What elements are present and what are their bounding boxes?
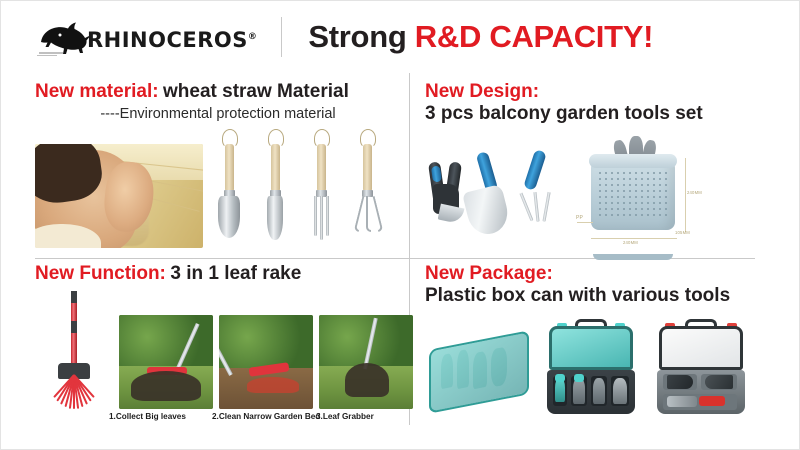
- case-lid-panel: [659, 326, 743, 370]
- section-new-package: New Package: Plastic box can with variou…: [425, 263, 793, 443]
- wheat-straw-photo: [35, 144, 203, 248]
- brand-name: RHINOCEROS®: [87, 28, 257, 52]
- blue-handle-tool-set: [425, 144, 575, 256]
- wheat-straw-tool-lineup: [207, 130, 393, 248]
- cultivator-handle: [523, 149, 547, 191]
- slide-canvas: RHINOCEROS® Strong R&D CAPACITY! New mat…: [0, 0, 800, 450]
- new-material-heading-red: New material:: [35, 81, 159, 102]
- gray-red-open-tool-case: [653, 322, 749, 418]
- fork-prong: [314, 196, 317, 236]
- basket-body: [591, 158, 675, 230]
- new-material-heading-black: wheat straw Material: [163, 81, 349, 102]
- cultivator-prong: [520, 192, 534, 221]
- new-design-heading: New Design: 3 pcs balcony garden tools s…: [425, 81, 793, 126]
- wheat-straw-handle-cultivator: [347, 130, 387, 242]
- transplanter-blade: [267, 196, 283, 240]
- case-tool-item: [667, 396, 697, 407]
- case-tray: [547, 370, 635, 414]
- leaf-rake-captions: 1.Collect Big leaves 2.Clean Narrow Gard…: [35, 412, 407, 421]
- new-design-heading-red: New Design:: [425, 81, 539, 102]
- tool-case-lineup: [425, 322, 793, 418]
- tool-grip: [555, 374, 565, 382]
- dimension-line-material: [577, 222, 593, 223]
- section-new-design: New Design: 3 pcs balcony garden tools s…: [425, 81, 793, 256]
- new-design-media: 240MM 240MM 105MM PP: [425, 136, 793, 256]
- caption-collect-big-leaves: 1.Collect Big leaves: [109, 412, 212, 421]
- case-tool-item: [705, 375, 733, 389]
- leaf-rake-photo-collect: [119, 315, 213, 409]
- case-lid: [429, 330, 529, 413]
- case-tool-item: [667, 375, 693, 389]
- new-function-heading: New Function: 3 in 1 leaf rake: [35, 263, 407, 285]
- slide-header: RHINOCEROS® Strong R&D CAPACITY!: [1, 1, 800, 73]
- pruner-blade: [438, 203, 465, 224]
- leaf-rake-product-shot: [35, 291, 113, 409]
- trowel-scoop: [462, 184, 512, 238]
- section-new-function: New Function: 3 in 1 leaf rake: [35, 263, 407, 443]
- case-lid-panel: [549, 326, 633, 370]
- page-title-red: R&D CAPACITY!: [415, 19, 653, 54]
- tool-grip: [574, 374, 584, 382]
- caption-leaf-grabber: 3.Leaf Grabber: [316, 412, 406, 421]
- wheat-straw-handle-fork: [301, 130, 341, 242]
- cultivator-claw: [370, 196, 384, 232]
- basket-foot: [593, 254, 673, 260]
- section-new-material: New material: wheat straw Material ----E…: [35, 81, 407, 256]
- leaf-rake-media: [35, 291, 407, 409]
- leaf-rake-photo-grabber: [319, 315, 413, 409]
- trowel-blade: [218, 196, 240, 238]
- new-package-heading-black: Plastic box can with various tools: [425, 285, 793, 307]
- new-design-heading-black: 3 pcs balcony garden tools set: [425, 103, 793, 125]
- new-material-media: [35, 130, 407, 248]
- dimension-width-label: 240MM: [623, 240, 638, 245]
- teal-closed-tool-case: [425, 330, 529, 410]
- case-tray: [657, 370, 745, 414]
- wheat-straw-handle-transplanter: [255, 130, 295, 242]
- cultivator-prong: [533, 192, 540, 222]
- rake-tines: [247, 377, 299, 393]
- new-package-heading-red: New Package:: [425, 263, 553, 284]
- new-material-subheading: ----Environmental protection material: [35, 106, 407, 122]
- dimension-height-label: 240MM: [687, 190, 702, 195]
- new-material-heading: New material: wheat straw Material: [35, 81, 407, 103]
- page-title: Strong R&D CAPACITY!: [308, 19, 653, 55]
- rhinoceros-logo-icon: [33, 16, 95, 58]
- dimension-depth-label: 105MM: [675, 230, 690, 235]
- rake-pole-segment: [71, 291, 77, 303]
- case-tool-item: [613, 378, 627, 404]
- brand-trademark: ®: [248, 32, 258, 42]
- basket-rim: [589, 154, 677, 168]
- tool-grip: [699, 396, 725, 406]
- dimension-line-width: [591, 238, 677, 239]
- basket-perforation-pattern: [597, 170, 669, 220]
- new-function-heading-red: New Function:: [35, 263, 166, 284]
- new-package-heading: New Package: Plastic box can with variou…: [425, 263, 793, 308]
- fork-prong: [320, 196, 323, 240]
- new-function-heading-black: 3 in 1 leaf rake: [170, 263, 301, 284]
- tool-handle: [317, 144, 326, 192]
- teal-open-tool-case: [543, 322, 639, 418]
- photo-foliage: [219, 315, 313, 370]
- rake-pole: [71, 291, 77, 369]
- wheat-straw-handle-trowel: [209, 130, 249, 242]
- leaf-pile: [131, 371, 201, 401]
- case-tool-item: [593, 378, 605, 404]
- tool-handle: [271, 144, 280, 192]
- dimension-line-height: [685, 158, 686, 232]
- page-title-dark: Strong: [308, 19, 406, 54]
- tool-handle: [363, 144, 372, 192]
- leaf-rake-photo-narrow-bed: [219, 315, 313, 409]
- storage-basket: 240MM 240MM 105MM PP: [575, 136, 703, 256]
- rake-pole-segment: [71, 321, 77, 333]
- grabbed-leaf-bundle: [345, 363, 389, 397]
- header-divider: [281, 17, 282, 57]
- fork-prong: [326, 196, 329, 236]
- brand-logo: RHINOCEROS®: [33, 14, 257, 60]
- caption-clean-narrow-garden-bed: 2.Clean Narrow Garden Bed: [212, 412, 316, 421]
- tool-handle: [225, 144, 234, 192]
- cultivator-prong: [542, 192, 551, 222]
- dimension-material-label: PP: [576, 215, 583, 221]
